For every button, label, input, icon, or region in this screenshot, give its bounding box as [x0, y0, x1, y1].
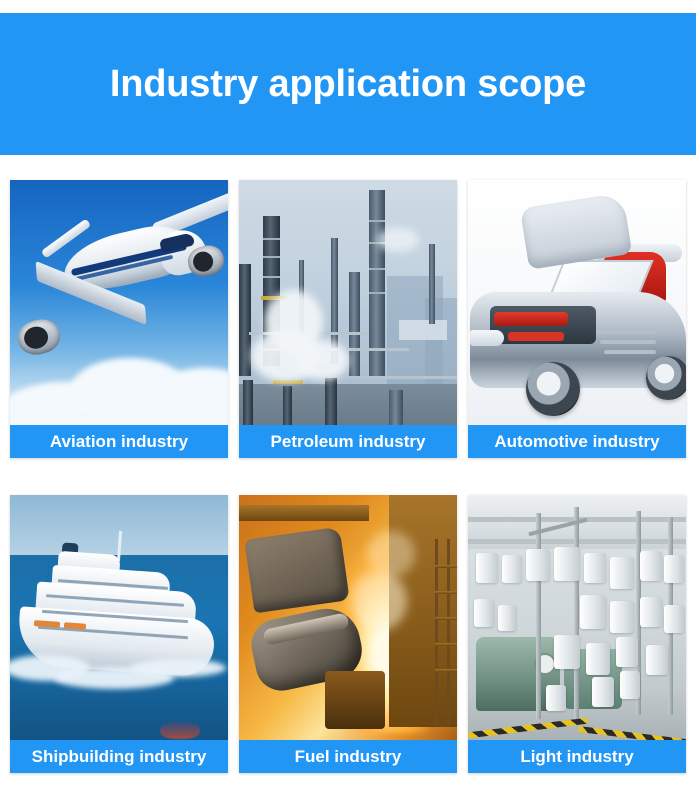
caption-label-fuel: Fuel industry	[295, 748, 402, 765]
caption-label-shipbuilding: Shipbuilding industry	[32, 748, 207, 765]
caption-label-light: Light industry	[520, 748, 633, 765]
caption-label-petroleum: Petroleum industry	[271, 433, 426, 450]
caption-bar-petroleum: Petroleum industry	[239, 425, 457, 458]
petroleum-photo	[239, 180, 457, 458]
industry-card-aviation[interactable]: Aviation industry	[10, 180, 228, 458]
caption-bar-shipbuilding: Shipbuilding industry	[10, 740, 228, 773]
page-header-banner: Industry application scope	[0, 13, 696, 155]
fuel-photo	[239, 495, 457, 773]
light-industry-photo	[468, 495, 686, 773]
industry-card-shipbuilding[interactable]: Shipbuilding industry	[10, 495, 228, 773]
industry-card-automotive[interactable]: Automotive industry	[468, 180, 686, 458]
page-title: Industry application scope	[110, 65, 586, 103]
caption-bar-fuel: Fuel industry	[239, 740, 457, 773]
shipbuilding-photo	[10, 495, 228, 773]
industry-card-grid: Aviation industry	[10, 180, 686, 773]
industry-card-petroleum[interactable]: Petroleum industry	[239, 180, 457, 458]
aviation-photo	[10, 180, 228, 458]
caption-bar-light: Light industry	[468, 740, 686, 773]
automotive-photo	[468, 180, 686, 458]
caption-bar-aviation: Aviation industry	[10, 425, 228, 458]
industry-card-fuel[interactable]: Fuel industry	[239, 495, 457, 773]
industry-scope-page: Industry application scope	[0, 0, 696, 800]
caption-bar-automotive: Automotive industry	[468, 425, 686, 458]
caption-label-aviation: Aviation industry	[50, 433, 188, 450]
watermark-logo	[160, 721, 200, 739]
caption-label-automotive: Automotive industry	[494, 433, 659, 450]
industry-card-light[interactable]: Light industry	[468, 495, 686, 773]
